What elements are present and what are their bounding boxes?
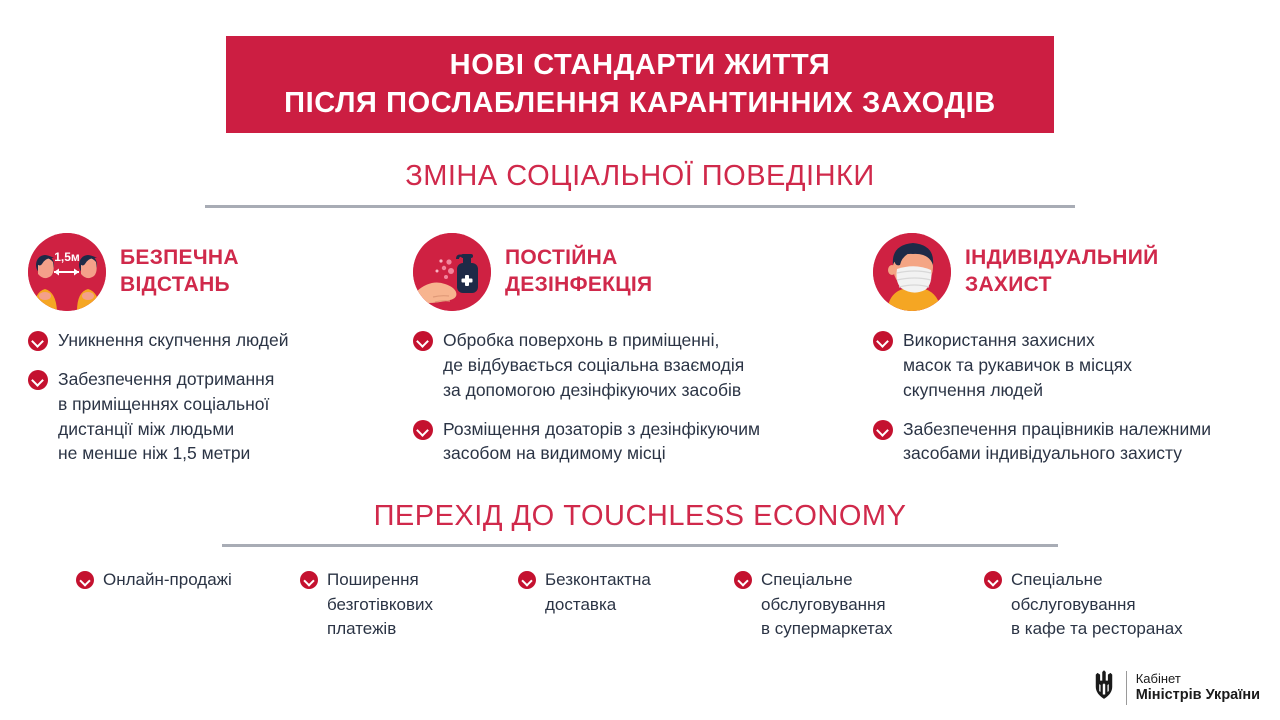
column-personal-protection-title: ІНДИВІДУАЛЬНИЙ ЗАХИСТ bbox=[965, 245, 1159, 299]
list-item: Забезпечення працівників належними засоб… bbox=[873, 417, 1273, 467]
touchless-item-text: Безконтактна доставка bbox=[545, 568, 651, 617]
touchless-item-text: Поширення безготівкових платежів bbox=[327, 568, 433, 642]
chevron-down-bullet-icon bbox=[413, 420, 433, 440]
list-item: Уникнення скупчення людей bbox=[28, 328, 373, 353]
list-item-text: Уникнення скупчення людей bbox=[58, 328, 289, 353]
section-header-social-behavior-text: ЗМІНА СОЦІАЛЬНОЇ ПОВЕДІНКИ bbox=[405, 160, 875, 193]
touchless-item-text: Спеціальне обслуговування в супермаркета… bbox=[761, 568, 893, 642]
list-item: Забезпечення дотримання в приміщеннях со… bbox=[28, 367, 373, 466]
footer-logo: Кабінет Міністрів України bbox=[1091, 669, 1260, 706]
chevron-down-bullet-icon bbox=[28, 331, 48, 351]
list-item-text: Забезпечення працівників належними засоб… bbox=[903, 417, 1211, 467]
section-header-social-behavior: ЗМІНА СОЦІАЛЬНОЇ ПОВЕДІНКИ bbox=[0, 160, 1280, 193]
face-mask-icon bbox=[873, 233, 951, 311]
chevron-down-bullet-icon bbox=[76, 571, 94, 589]
touchless-item-online-sales: Онлайн-продажі bbox=[76, 568, 266, 593]
section-header-touchless-economy: ПЕРЕХІД ДО TOUCHLESS ECONOMY bbox=[0, 500, 1280, 533]
column-safe-distance-title: БЕЗПЕЧНА ВІДСТАНЬ bbox=[120, 245, 239, 299]
footer-line-1: Кабінет bbox=[1136, 671, 1260, 686]
touchless-item-text: Онлайн-продажі bbox=[103, 568, 232, 593]
column-safe-distance-header: 1,5м БЕЗПЕЧНА ВІДСТАНЬ bbox=[28, 232, 373, 312]
svg-text:1,5м: 1,5м bbox=[54, 250, 80, 264]
column-disinfection: ПОСТІЙНА ДЕЗІНФЕКЦІЯ Обробка поверхонь в… bbox=[413, 232, 843, 480]
chevron-down-bullet-icon bbox=[28, 370, 48, 390]
footer-divider bbox=[1126, 671, 1127, 705]
chevron-down-bullet-icon bbox=[984, 571, 1002, 589]
touchless-item-cashless-payments: Поширення безготівкових платежів bbox=[300, 568, 490, 642]
column-personal-protection: ІНДИВІДУАЛЬНИЙ ЗАХИСТ Використання захис… bbox=[873, 232, 1273, 480]
hand-sanitizer-icon bbox=[413, 233, 491, 311]
column-disinfection-bullets: Обробка поверхонь в приміщенні, де відбу… bbox=[413, 328, 843, 466]
touchless-item-supermarket-service: Спеціальне обслуговування в супермаркета… bbox=[734, 568, 944, 642]
list-item-text: Використання захисних масок та рукавичок… bbox=[903, 328, 1132, 403]
column-disinfection-header: ПОСТІЙНА ДЕЗІНФЕКЦІЯ bbox=[413, 232, 843, 312]
column-safe-distance-bullets: Уникнення скупчення людей Забезпечення д… bbox=[28, 328, 373, 466]
column-disinfection-title: ПОСТІЙНА ДЕЗІНФЕКЦІЯ bbox=[505, 245, 652, 299]
section-header-touchless-economy-text: ПЕРЕХІД ДО TOUCHLESS ECONOMY bbox=[374, 500, 907, 533]
chevron-down-bullet-icon bbox=[873, 420, 893, 440]
touchless-item-cafe-restaurant-service: Спеціальне обслуговування в кафе та рест… bbox=[984, 568, 1234, 642]
list-item-text: Розміщення дозаторів з дезінфікуючим зас… bbox=[443, 417, 760, 467]
chevron-down-bullet-icon bbox=[300, 571, 318, 589]
chevron-down-bullet-icon bbox=[518, 571, 536, 589]
chevron-down-bullet-icon bbox=[734, 571, 752, 589]
section-divider-2 bbox=[222, 544, 1058, 547]
list-item: Використання захисних масок та рукавичок… bbox=[873, 328, 1273, 403]
list-item: Розміщення дозаторів з дезінфікуючим зас… bbox=[413, 417, 843, 467]
footer-line-2: Міністрів України bbox=[1136, 687, 1260, 704]
footer-text-block: Кабінет Міністрів України bbox=[1136, 671, 1260, 703]
chevron-down-bullet-icon bbox=[413, 331, 433, 351]
ukraine-tryzub-emblem bbox=[1091, 669, 1117, 706]
title-line-1: НОВІ СТАНДАРТИ ЖИТТЯ bbox=[450, 47, 831, 84]
title-line-2: ПІСЛЯ ПОСЛАБЛЕННЯ КАРАНТИННИХ ЗАХОДІВ bbox=[284, 85, 996, 122]
social-distance-icon: 1,5м bbox=[28, 233, 106, 311]
chevron-down-bullet-icon bbox=[873, 331, 893, 351]
section-divider-1 bbox=[205, 205, 1075, 208]
column-personal-protection-header: ІНДИВІДУАЛЬНИЙ ЗАХИСТ bbox=[873, 232, 1273, 312]
touchless-item-text: Спеціальне обслуговування в кафе та рест… bbox=[1011, 568, 1183, 642]
title-banner: НОВІ СТАНДАРТИ ЖИТТЯ ПІСЛЯ ПОСЛАБЛЕННЯ К… bbox=[226, 36, 1054, 133]
column-safe-distance: 1,5м БЕЗПЕЧНА ВІДСТАНЬ Уникнення скупчен… bbox=[28, 232, 373, 480]
list-item-text: Обробка поверхонь в приміщенні, де відбу… bbox=[443, 328, 744, 403]
touchless-item-contactless-delivery: Безконтактна доставка bbox=[518, 568, 708, 617]
column-personal-protection-bullets: Використання захисних масок та рукавичок… bbox=[873, 328, 1273, 466]
list-item-text: Забезпечення дотримання в приміщеннях со… bbox=[58, 367, 274, 466]
list-item: Обробка поверхонь в приміщенні, де відбу… bbox=[413, 328, 843, 403]
